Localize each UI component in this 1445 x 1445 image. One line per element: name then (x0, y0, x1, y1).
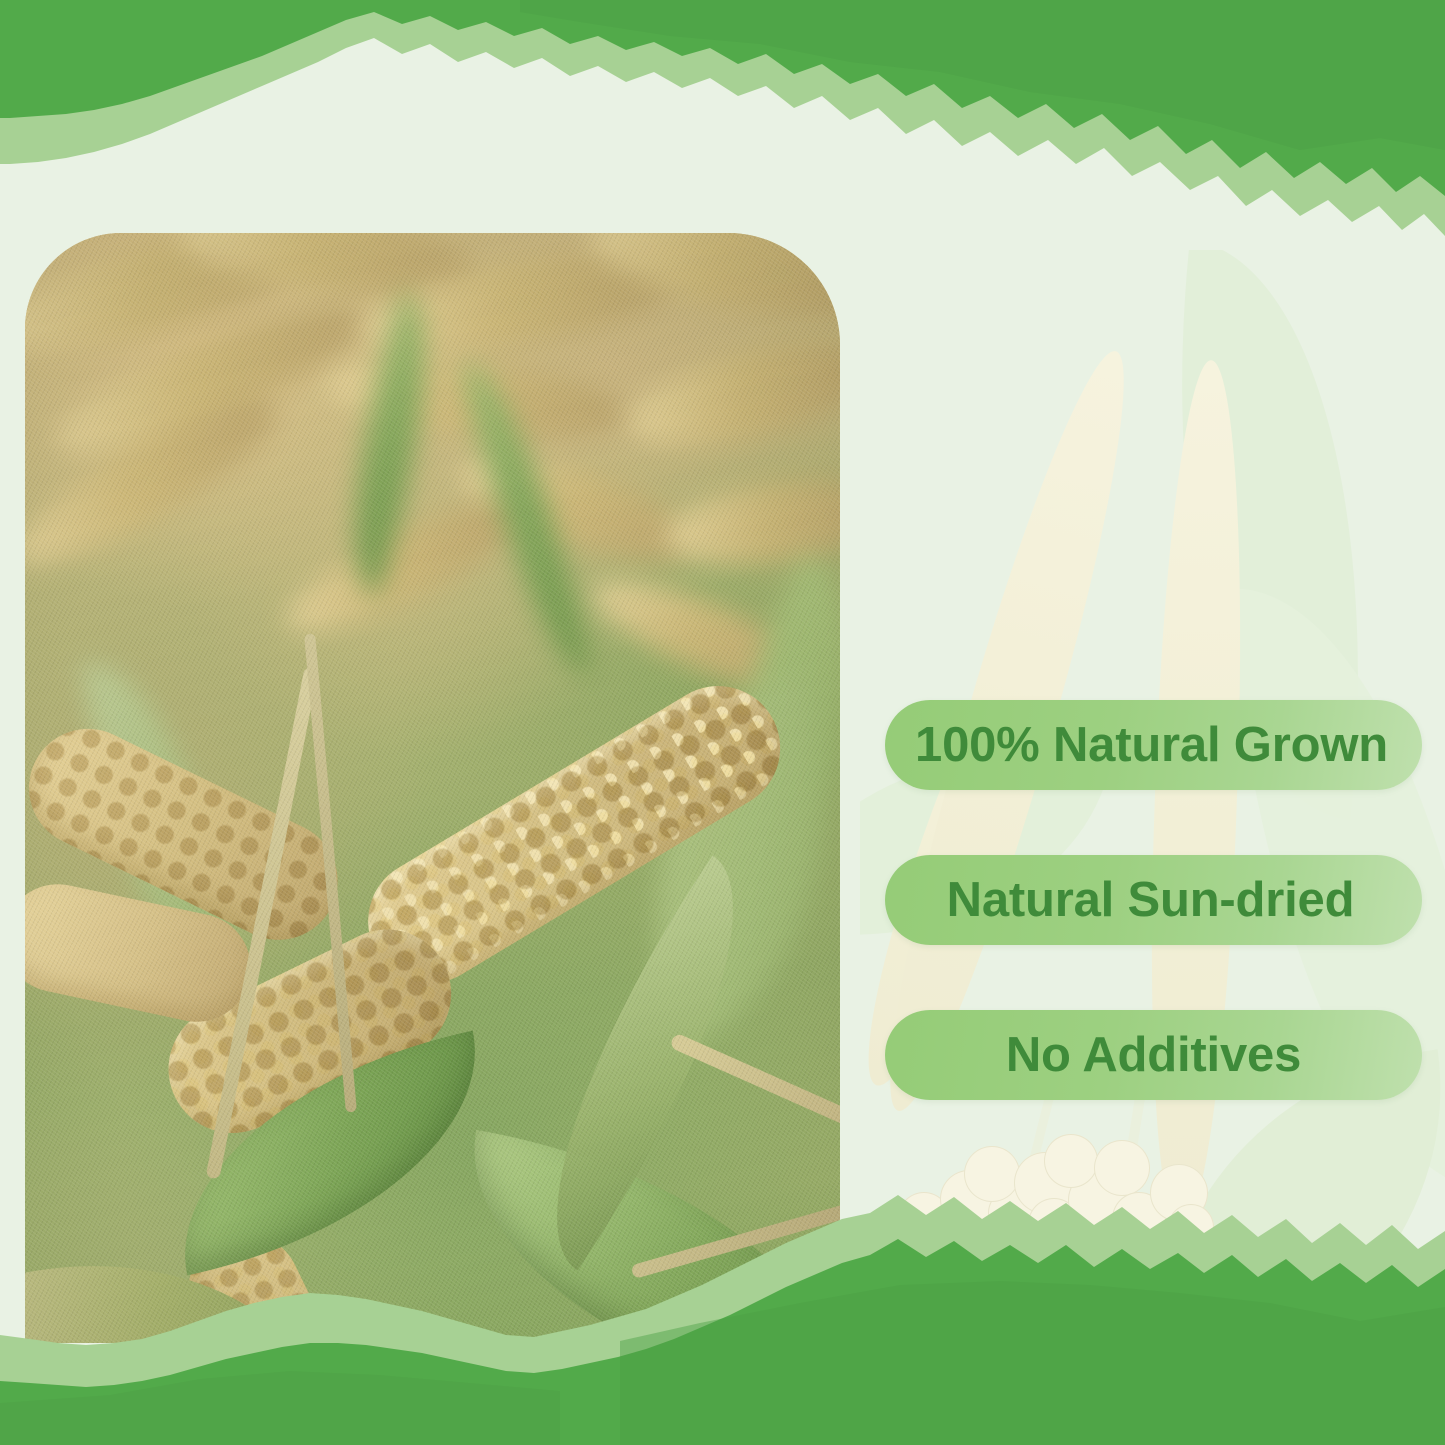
photo-grain (25, 233, 840, 1343)
product-photo (25, 233, 840, 1343)
photo-artwork (25, 233, 840, 1343)
badge-natural-grown[interactable]: 100% Natural Grown (885, 700, 1422, 790)
badge-no-additives[interactable]: No Additives (885, 1010, 1422, 1100)
badge-label: No Additives (885, 1027, 1422, 1083)
badge-sun-dried[interactable]: Natural Sun-dried (885, 855, 1422, 945)
marketing-banner: 100% Natural Grown Natural Sun-dried No … (0, 0, 1445, 1445)
feature-badge-list: 100% Natural Grown Natural Sun-dried No … (885, 700, 1422, 1100)
badge-label: Natural Sun-dried (885, 872, 1422, 928)
badge-label: 100% Natural Grown (885, 717, 1422, 773)
